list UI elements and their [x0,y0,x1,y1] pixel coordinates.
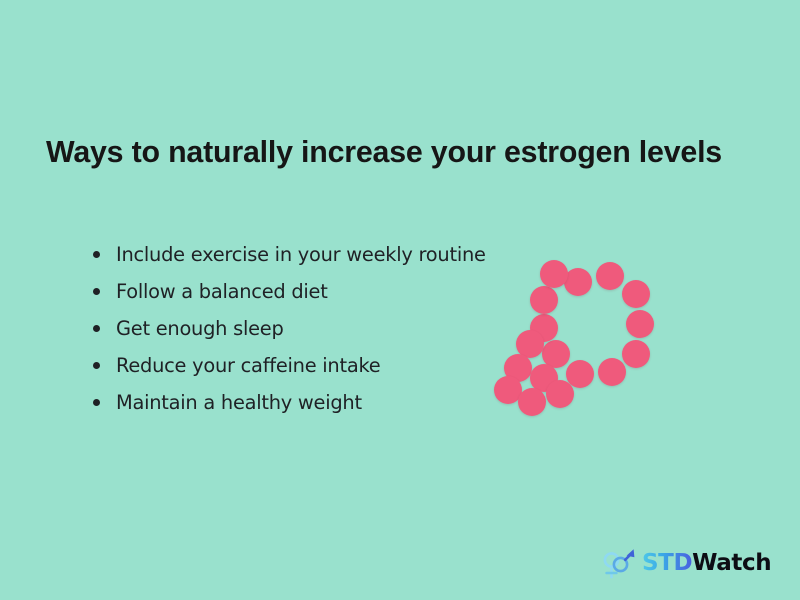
pill [596,262,624,290]
pill [622,280,650,308]
logo-wordmark: STDWatch [642,552,771,575]
pill [622,340,650,368]
list-item: Reduce your caffeine intake [88,347,486,384]
pill [518,388,546,416]
list-item: Include exercise in your weekly routine [88,236,486,273]
gender-symbols-icon [598,545,638,581]
list-item: Maintain a healthy weight [88,384,486,421]
logo-std-text: STD [642,550,692,576]
pill [546,380,574,408]
list-item: Get enough sleep [88,310,486,347]
pills-venus-symbol-graphic [494,256,674,426]
slide-canvas: Ways to naturally increase your estrogen… [0,0,800,600]
page-title: Ways to naturally increase your estrogen… [46,134,752,171]
pill [530,286,558,314]
list-item: Follow a balanced diet [88,273,486,310]
pill [626,310,654,338]
pill [598,358,626,386]
logo-watch-text: Watch [692,550,771,576]
tips-list: Include exercise in your weekly routine … [88,236,486,421]
pill [564,268,592,296]
pill [540,260,568,288]
stdwatch-logo: STDWatch [598,545,771,581]
